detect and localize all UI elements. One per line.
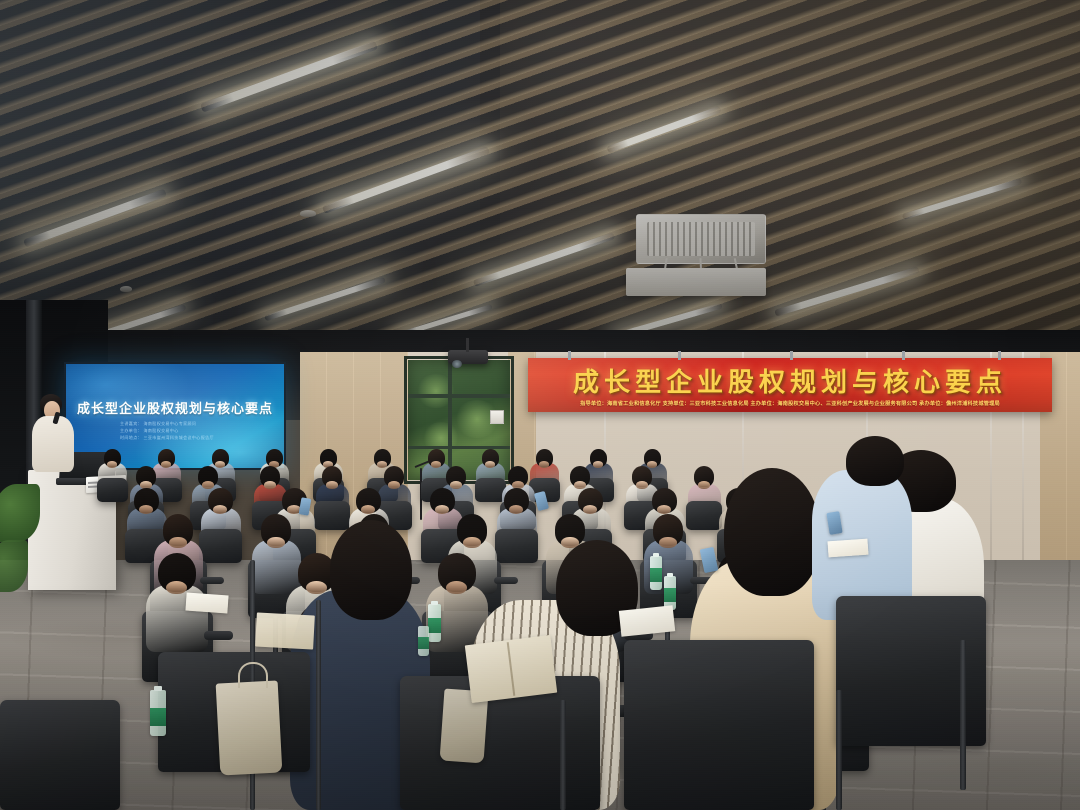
projector-mount [466, 338, 469, 352]
projector-lens-icon [452, 360, 462, 368]
screen-title-text: 成长型企业股权规划与核心要点 [66, 398, 284, 417]
chair-armrest [494, 577, 518, 584]
ac-deflector-panel [626, 268, 766, 296]
event-banner: 成长型企业股权规划与核心要点 指导单位：海南省工业和信息化厅 支持单位：三亚市科… [528, 358, 1052, 412]
chair-post [560, 700, 566, 810]
banner-clip [568, 351, 571, 360]
chair-post [960, 640, 966, 790]
chair[interactable] [97, 478, 127, 502]
smoke-detector-icon [300, 210, 316, 217]
attendee-head [377, 461, 387, 467]
screen-subtitle-line: 主讲嘉宾： 海南股权交易中心专家顾问 [120, 420, 214, 427]
foreground-woman-phone-hair [724, 468, 820, 596]
attendee-head [267, 537, 284, 548]
banner-subtitle-text: 指导单位：海南省工业和信息化厅 支持单位：三亚市科技工业信息化局 主办单位：海南… [528, 400, 1052, 407]
banner-clip [678, 351, 681, 360]
speaker-body [32, 416, 74, 472]
banner-clip [998, 351, 1001, 360]
attendee-body [252, 540, 302, 593]
water-bottle[interactable] [150, 690, 166, 736]
chair[interactable] [624, 640, 814, 810]
ac-grille [647, 222, 755, 257]
notebook[interactable] [255, 613, 315, 650]
chair-armrest [200, 577, 224, 584]
attendee-head [161, 461, 171, 467]
attendee-head [169, 537, 186, 548]
chair-armrest [204, 631, 234, 640]
tote-bag[interactable] [216, 680, 283, 775]
banner-title-text: 成长型企业股权规划与核心要点 [528, 362, 1052, 399]
attendee-head [593, 461, 603, 467]
attendee-head [326, 481, 338, 488]
seminar-room-photo: 成长型企业股权规划与核心要点 主讲嘉宾： 海南股权交易中心专家顾问 主办单位： … [0, 0, 1080, 810]
chair[interactable] [686, 501, 722, 530]
chair-post [316, 600, 321, 810]
screen-subtitle-line: 时间地点： 三亚市崖州湾科技城会议中心报告厅 [120, 434, 214, 441]
attendee-head [431, 461, 441, 467]
attendee-head [388, 481, 400, 488]
air-conditioning-diffuser [636, 214, 766, 264]
attendee-head [485, 461, 495, 467]
attendee-head [215, 461, 225, 467]
attendee-head [463, 537, 480, 548]
chair[interactable] [314, 501, 350, 530]
paper-sheet[interactable] [827, 539, 868, 558]
chair-post [836, 690, 842, 810]
water-bottle[interactable] [428, 604, 441, 642]
foreground-woman-ponytail-left-hair [330, 520, 412, 620]
banner-clip [902, 351, 905, 360]
attendee-head [264, 481, 276, 488]
wall-switch-plate [490, 410, 504, 424]
attendee-head [107, 461, 117, 467]
attendee-head [539, 461, 549, 467]
attendee-head [659, 537, 676, 548]
attendee-head [450, 481, 462, 488]
water-bottle[interactable] [418, 626, 429, 656]
attendee-head [636, 481, 648, 488]
screen-subtitle-block: 主讲嘉宾： 海南股权交易中心专家顾问 主办单位： 海南股权交易中心 时间地点： … [120, 420, 214, 441]
attendee-head [647, 461, 657, 467]
chair[interactable] [0, 700, 120, 810]
attendee-head [574, 481, 586, 488]
water-bottle[interactable] [650, 556, 662, 590]
chair[interactable] [199, 529, 242, 563]
smoke-detector-icon [120, 286, 132, 292]
paper-sheet[interactable] [185, 593, 228, 614]
banner-clip [790, 351, 793, 360]
screen-subtitle-line: 主办单位： 海南股权交易中心 [120, 427, 214, 434]
tote-bag-handle [238, 662, 268, 688]
chair[interactable] [495, 529, 538, 563]
foreground-man-blue-shirt-hair [846, 436, 904, 486]
attendee-head [698, 481, 710, 488]
attendee-head [202, 481, 214, 488]
notebook[interactable] [465, 635, 557, 703]
